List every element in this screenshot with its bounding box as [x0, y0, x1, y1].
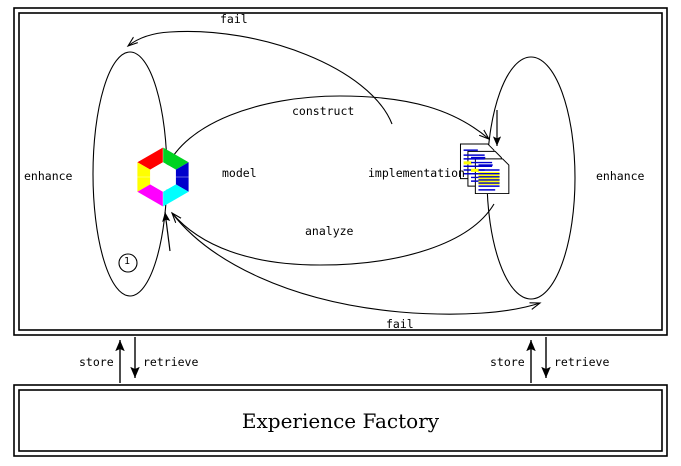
marker-1-label: 1 — [124, 257, 130, 267]
experience-factory-title: Experience Factory — [0, 409, 681, 433]
label-implementation: implementation — [368, 168, 465, 180]
label-enhance-right: enhance — [596, 171, 644, 183]
label-fail-top: fail — [220, 14, 248, 26]
label-model: model — [222, 168, 257, 180]
document-stack-icon — [458, 139, 520, 201]
project-organization-frame — [14, 8, 667, 335]
label-retrieve-left: retrieve — [143, 357, 198, 369]
diagram-canvas: enhance enhance model implementation fai… — [0, 0, 681, 466]
hexagon-color-wheel-icon — [131, 145, 195, 209]
label-store-right: store — [490, 357, 525, 369]
label-retrieve-right: retrieve — [554, 357, 609, 369]
label-fail-bottom: fail — [386, 319, 414, 331]
model-inbound-arrow — [165, 212, 170, 251]
label-construct: construct — [292, 106, 354, 118]
label-enhance-left: enhance — [24, 171, 72, 183]
label-analyze: analyze — [305, 226, 353, 238]
label-store-left: store — [79, 357, 114, 369]
